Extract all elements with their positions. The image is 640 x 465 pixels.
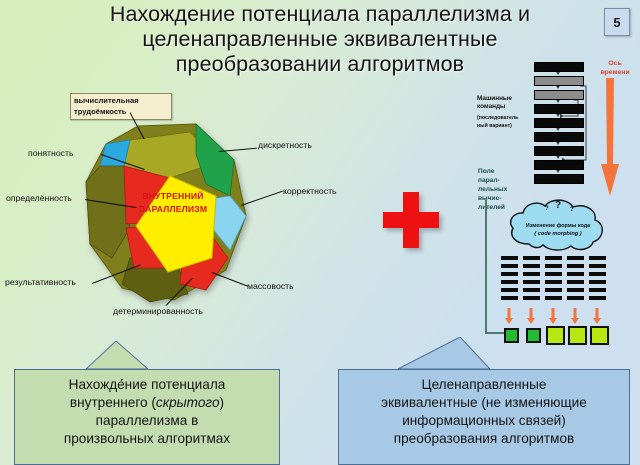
left-line-2: внутреннего (скрытого) (23, 394, 271, 412)
processor-cell (545, 288, 562, 292)
result-square (504, 328, 519, 343)
processor-cell (589, 280, 606, 284)
title-line-3: преобразовании алгоритмов (40, 52, 600, 77)
callout-line-1: вычислительная (74, 96, 168, 107)
orange-arrow-icon (549, 308, 557, 324)
orange-arrow-icon (571, 308, 579, 324)
field-line-3: лельных (478, 185, 518, 194)
result-square (546, 326, 565, 345)
slide-number-badge: 5 (604, 8, 630, 36)
processor-cell (567, 296, 584, 300)
right-box-tail (398, 337, 490, 369)
field-line-1: Поле (478, 167, 518, 176)
processor-cell (501, 296, 518, 300)
processor-cell (523, 256, 540, 260)
processor-cell (589, 296, 606, 300)
command-block (534, 118, 584, 128)
orange-arrow-icon (505, 308, 513, 324)
machine-line-1: Машинные (477, 95, 529, 103)
polyhedron-svg (78, 118, 263, 313)
processor-cell (523, 264, 540, 268)
command-block (534, 174, 584, 184)
processor-cell (567, 288, 584, 292)
machine-command-flow (528, 60, 592, 192)
polyhedron-diagram: ВНУТРЕННИЙ ПАРАЛЛЕЛИЗМ (78, 118, 263, 313)
field-connector-line (485, 200, 487, 334)
command-block (534, 90, 584, 100)
processor-cell (567, 264, 584, 268)
cloud-line-2: ( code morphing ) (517, 230, 599, 238)
left-box-tail (86, 341, 148, 369)
processor-cell (523, 272, 540, 276)
orange-arrow-icon (593, 308, 601, 324)
label-machine-commands: Машинные команды (последователь ный вари… (477, 95, 529, 131)
callout-computational-effort: вычислительная трудоёмкость (70, 93, 172, 120)
left-line-3: параллелизма в (23, 412, 271, 430)
machine-sub-1: (последователь (477, 114, 529, 122)
machine-line-2: команды (477, 103, 529, 111)
processor-cell (545, 264, 562, 268)
slide-number: 5 (613, 15, 620, 30)
time-line-2: времени (592, 69, 638, 78)
command-block (534, 132, 584, 142)
processor-cell (545, 256, 562, 260)
left-line-1: Нахожде́ние потенциала (23, 376, 271, 394)
processor-cell (589, 288, 606, 292)
label-rezultativnost: результативность (5, 277, 76, 287)
left-line-2b: скрытого (156, 395, 220, 410)
command-block (534, 76, 584, 86)
label-ponyatnost: понятность (28, 148, 74, 158)
bottom-box-left: Нахожде́ние потенциала внутреннего (скры… (14, 369, 280, 465)
question-mark-icon: ? (570, 207, 574, 213)
result-row (499, 308, 611, 338)
left-line-2a: внутреннего ( (70, 395, 156, 410)
field-line-2: парал- (478, 176, 518, 185)
right-line-3: информационных связей) (347, 412, 621, 430)
label-opredelennost: определённость (6, 193, 72, 203)
right-line-4: преобразования алгоритмов (347, 430, 621, 448)
processor-cell (545, 272, 562, 276)
question-mark-icon: ? (555, 200, 561, 211)
result-square (526, 328, 541, 343)
processor-cell (501, 288, 518, 292)
processor-cell (589, 264, 606, 268)
left-line-4: произвольных алгоритмах (23, 430, 271, 448)
cloud-line-1: Изменение формы кода (517, 222, 599, 230)
label-determinirovannost: детерминированность (113, 306, 203, 316)
question-mark-icon: ? (545, 206, 549, 212)
orange-arrow-icon (527, 308, 535, 324)
label-korrektnost: корректность (283, 186, 337, 196)
label-time-axis: Ось времени (592, 60, 638, 77)
time-axis-arrow-icon (600, 78, 620, 196)
command-block (534, 104, 584, 114)
right-line-2: эквивалентные (не изменяющие (347, 394, 621, 412)
title-line-2: целенаправленные эквивалентные (40, 27, 600, 52)
plus-icon (383, 192, 439, 248)
parallel-processor-grid (501, 256, 609, 308)
processor-cell (567, 280, 584, 284)
processor-cell (523, 280, 540, 284)
processor-cell (589, 256, 606, 260)
processor-cell (501, 272, 518, 276)
label-diskretnost: дискретность (258, 140, 312, 150)
processor-cell (567, 272, 584, 276)
slide-canvas: Нахождение потенциала параллелизма и цел… (0, 0, 640, 465)
processor-cell (501, 256, 518, 260)
machine-sub-2: ный вариант) (477, 122, 529, 130)
page-title: Нахождение потенциала параллелизма и цел… (40, 2, 600, 77)
time-line-1: Ось (592, 60, 638, 69)
command-block (534, 160, 584, 170)
processor-cell (589, 272, 606, 276)
callout-line-2: трудоёмкость (74, 107, 168, 118)
left-line-2c: ) (220, 395, 225, 410)
processor-cell (523, 288, 540, 292)
result-square (568, 326, 587, 345)
title-line-1: Нахождение потенциала параллелизма и (40, 2, 600, 27)
command-block (534, 62, 584, 72)
cloud-label: Изменение формы кода ( code morphing ) (517, 222, 599, 238)
processor-cell (545, 296, 562, 300)
processor-cell (501, 264, 518, 268)
processor-cell (545, 280, 562, 284)
processor-cell (523, 296, 540, 300)
label-massovost: массовость (247, 281, 294, 291)
command-block (534, 146, 584, 156)
right-line-1: Целенаправленные (347, 376, 621, 394)
processor-cell (501, 280, 518, 284)
bottom-box-right: Целенаправленные эквивалентные (не измен… (338, 369, 630, 465)
processor-cell (567, 256, 584, 260)
result-square (590, 326, 609, 345)
